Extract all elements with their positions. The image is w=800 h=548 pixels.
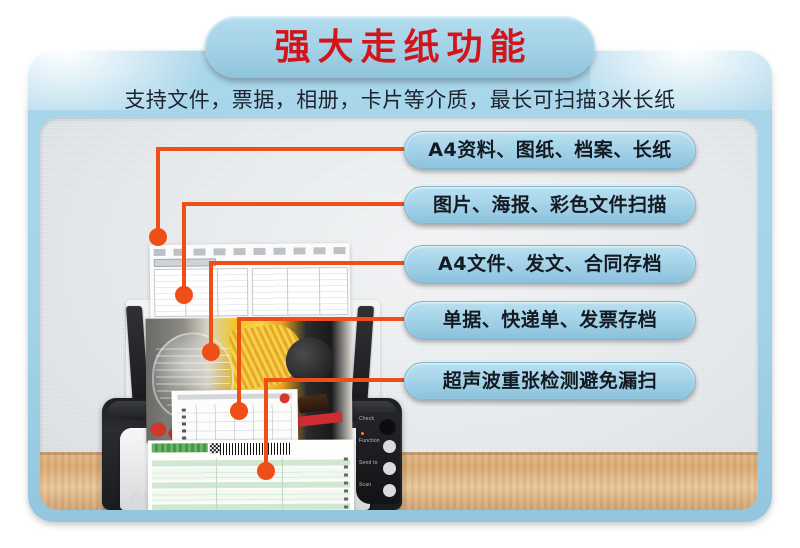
scan-button[interactable]: Scan — [359, 482, 399, 503]
callout-label-1[interactable]: A4资料、图纸、档案、长纸 — [404, 131, 696, 169]
callout-label-3-text: A4文件、发文、合同存档 — [438, 255, 662, 274]
promo-banner: 强大走纸功能 支持文件，票据，相册，卡片等介质，最长可扫描3米长纸 fujits… — [0, 0, 800, 548]
callout-label-4-text: 单据、快递单、发票存档 — [443, 311, 658, 330]
subtitle-text: 支持文件，票据，相册，卡片等介质，最长可扫描3米长纸 — [124, 84, 675, 114]
function-button[interactable]: Function — [359, 438, 399, 459]
callout-label-2[interactable]: 图片、海报、彩色文件扫描 — [404, 186, 696, 224]
callout-label-1-text: A4资料、图纸、档案、长纸 — [428, 141, 671, 160]
callout-label-3[interactable]: A4文件、发文、合同存档 — [404, 245, 696, 283]
title-pill: 强大走纸功能 — [205, 16, 595, 78]
callout-label-2-text: 图片、海报、彩色文件扫描 — [433, 196, 667, 215]
shipping-form — [148, 439, 354, 510]
subtitle-row: 支持文件，票据，相册，卡片等介质，最长可扫描3米长纸 — [28, 82, 772, 116]
scanner-control-panel[interactable]: Check Function Send to Scan — [356, 412, 400, 504]
media-stack — [146, 244, 356, 510]
callout-label-5-text: 超声波重张检测避免漏扫 — [443, 372, 658, 391]
check-button[interactable]: Check — [359, 416, 399, 437]
page-title: 强大走纸功能 — [267, 29, 532, 65]
callout-label-5[interactable]: 超声波重张检测避免漏扫 — [404, 362, 696, 400]
spreadsheet-document — [150, 243, 351, 321]
callout-label-4[interactable]: 单据、快递单、发票存档 — [404, 301, 696, 339]
send-to-button[interactable]: Send to — [359, 460, 399, 481]
